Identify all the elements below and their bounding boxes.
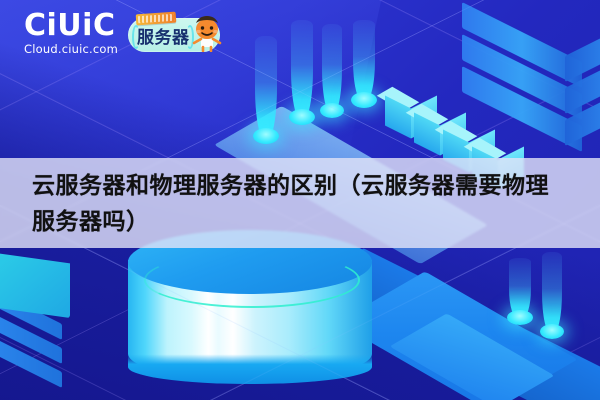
page-title: 云服务器和物理服务器的区别（云服务器需要物理服务器吗） <box>32 167 572 239</box>
server-badge-label: 服务器 <box>137 23 190 48</box>
brand-domain: Cloud.ciuic.com <box>24 42 118 56</box>
server-badge[interactable]: 服务器 <box>128 18 220 52</box>
brand-wordmark: CiUiC <box>24 10 118 42</box>
title-band: 云服务器和物理服务器的区别（云服务器需要物理服务器吗） <box>0 158 600 248</box>
logo-block[interactable]: CiUiC Cloud.ciuic.com 服务器 <box>24 10 220 56</box>
brand-logo[interactable]: CiUiC Cloud.ciuic.com <box>24 10 118 56</box>
cloud-server-banner: 云服务器和物理服务器的区别（云服务器需要物理服务器吗） CiUiC Cloud.… <box>0 0 600 400</box>
mascot-orange-character-icon <box>188 12 226 52</box>
